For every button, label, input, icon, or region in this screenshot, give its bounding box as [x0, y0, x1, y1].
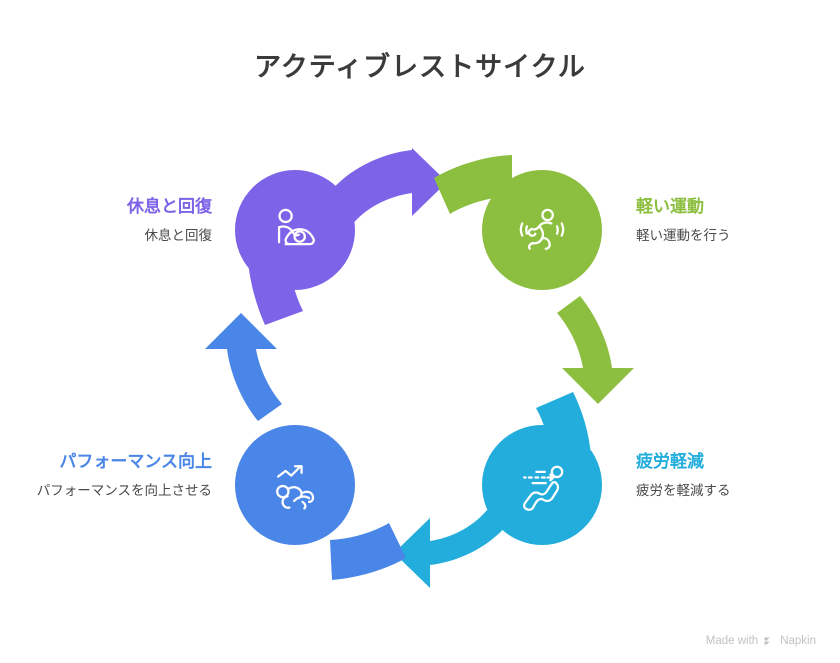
- arrow-perf-arc-tail: [330, 523, 406, 580]
- label-performance: パフォーマンス向上 パフォーマンスを向上させる: [12, 451, 212, 501]
- performance-trend-icon: [265, 455, 325, 515]
- label-rest: 休息と回復 休息と回復: [12, 196, 212, 246]
- label-fatigue-reduction: 疲労軽減 疲労を軽減する: [636, 451, 836, 501]
- napkin-logo-icon: [763, 635, 775, 647]
- node-performance[interactable]: [235, 425, 355, 545]
- napkin-attribution[interactable]: Made with Napkin: [706, 635, 816, 647]
- relaxing-person-icon: [512, 455, 572, 515]
- label-performance-heading: パフォーマンス向上: [12, 451, 212, 474]
- arrow-light-to-fatigue: [557, 296, 634, 404]
- arrow-perf-to-rest: [205, 313, 282, 421]
- label-rest-heading: 休息と回復: [12, 196, 212, 219]
- exercising-person-icon: [512, 200, 572, 260]
- node-fatigue-reduction[interactable]: [482, 425, 602, 545]
- footer-brand-text: Napkin: [780, 635, 816, 647]
- node-light-exercise[interactable]: [482, 170, 602, 290]
- label-light-exercise: 軽い運動 軽い運動を行う: [636, 196, 836, 246]
- footer-made-with-text: Made with: [706, 635, 758, 647]
- label-rest-subtitle: 休息と回復: [12, 226, 212, 246]
- arrow-fatigue-to-perf: [394, 510, 508, 588]
- label-light-exercise-subtitle: 軽い運動を行う: [636, 226, 836, 246]
- diagram-canvas: アクティブレストサイクル: [0, 0, 840, 663]
- label-light-exercise-heading: 軽い運動: [636, 196, 836, 219]
- label-fatigue-reduction-heading: 疲労軽減: [636, 451, 836, 474]
- label-performance-subtitle: パフォーマンスを向上させる: [12, 481, 212, 501]
- cycle-arrows-group: [0, 0, 840, 663]
- node-rest[interactable]: [235, 170, 355, 290]
- label-fatigue-reduction-subtitle: 疲労を軽減する: [636, 481, 836, 501]
- resting-person-icon: [265, 200, 325, 260]
